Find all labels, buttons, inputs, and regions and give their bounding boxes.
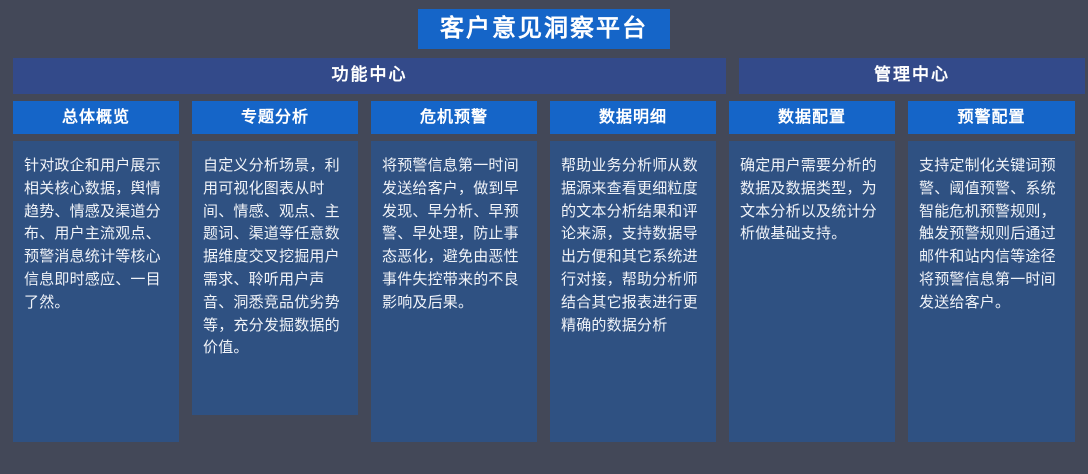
card-header-alert-config[interactable]: 预警配置	[908, 101, 1075, 134]
card-header-crisis-alert[interactable]: 危机预警	[371, 101, 537, 134]
insight-platform-page: { "title": "客户意见洞察平台", "colors": { "back…	[0, 0, 1088, 474]
card-body-overview: 针对政企和用户展示相关核心数据，舆情趋势、情感及渠道分布、用户主流观点、预警消息…	[13, 141, 179, 442]
section-header-row: 功能中心 管理中心	[0, 58, 1088, 94]
card-header-data-detail[interactable]: 数据明细	[550, 101, 716, 134]
card-column-data-config: 数据配置 确定用户需要分析的数据及数据类型，为文本分析以及统计分析做基础支持。	[729, 101, 895, 442]
card-column-topic-analysis: 专题分析 自定义分析场景，利用可视化图表从时间、情感、观点、主题词、渠道等任意数…	[192, 101, 358, 415]
card-body-alert-config: 支持定制化关键词预警、阈值预警、系统智能危机预警规则，触发预警规则后通过邮件和站…	[908, 141, 1075, 442]
card-body-topic-analysis: 自定义分析场景，利用可视化图表从时间、情感、观点、主题词、渠道等任意数据维度交叉…	[192, 141, 358, 415]
card-columns: 总体概览 针对政企和用户展示相关核心数据，舆情趋势、情感及渠道分布、用户主流观点…	[0, 94, 1088, 442]
card-body-crisis-alert: 将预警信息第一时间发送给客户，做到早发现、早分析、早预警、早处理，防止事态恶化，…	[371, 141, 537, 442]
title-bar: 客户意见洞察平台	[0, 0, 1088, 58]
card-column-overview: 总体概览 针对政企和用户展示相关核心数据，舆情趋势、情感及渠道分布、用户主流观点…	[13, 101, 179, 442]
card-header-data-config[interactable]: 数据配置	[729, 101, 895, 134]
card-column-crisis-alert: 危机预警 将预警信息第一时间发送给客户，做到早发现、早分析、早预警、早处理，防止…	[371, 101, 537, 442]
card-header-topic-analysis[interactable]: 专题分析	[192, 101, 358, 134]
card-column-data-detail: 数据明细 帮助业务分析师从数据源来查看更细粒度的文本分析结果和评论来源，支持数据…	[550, 101, 716, 442]
card-column-alert-config: 预警配置 支持定制化关键词预警、阈值预警、系统智能危机预警规则，触发预警规则后通…	[908, 101, 1075, 442]
card-body-data-config: 确定用户需要分析的数据及数据类型，为文本分析以及统计分析做基础支持。	[729, 141, 895, 442]
card-header-overview[interactable]: 总体概览	[13, 101, 179, 134]
section-header-function-center[interactable]: 功能中心	[13, 58, 726, 94]
card-body-data-detail: 帮助业务分析师从数据源来查看更细粒度的文本分析结果和评论来源，支持数据导出方便和…	[550, 141, 716, 442]
section-header-management-center[interactable]: 管理中心	[739, 58, 1085, 94]
page-title: 客户意见洞察平台	[418, 9, 670, 49]
